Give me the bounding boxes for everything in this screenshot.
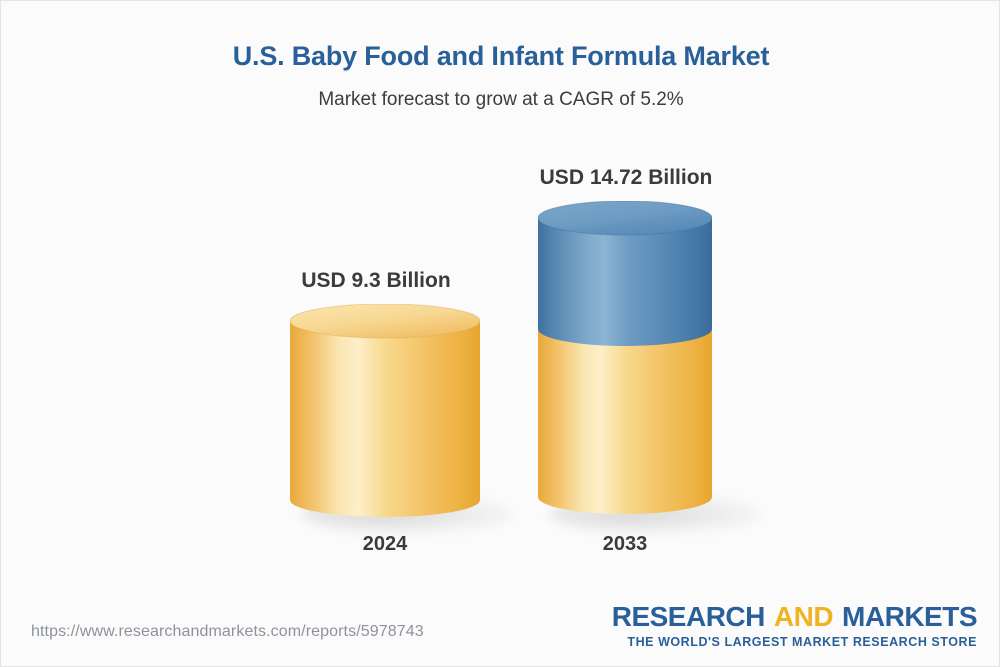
logo-tagline: THE WORLD'S LARGEST MARKET RESEARCH STOR… — [612, 635, 977, 649]
bar-cylinder-2024 — [290, 304, 480, 534]
chart-plot-area: USD 9.3 Billion — [1, 1, 1000, 601]
chart-canvas: U.S. Baby Food and Infant Formula Market… — [0, 0, 1000, 667]
logo-word-markets: MARKETS — [842, 601, 977, 632]
bar-category-label-2024: 2024 — [285, 533, 485, 556]
logo-wordmark: RESEARCHANDMARKETS — [612, 603, 977, 631]
research-and-markets-logo: RESEARCHANDMARKETS THE WORLD'S LARGEST M… — [612, 603, 977, 649]
source-url[interactable]: https://www.researchandmarkets.com/repor… — [31, 623, 424, 641]
bar-value-label-2024: USD 9.3 Billion — [276, 269, 476, 293]
logo-word-research: RESEARCH — [612, 601, 765, 632]
bar-value-label-2033: USD 14.72 Billion — [526, 166, 726, 190]
logo-word-and: AND — [774, 601, 833, 632]
bar-category-label-2033: 2033 — [525, 533, 725, 556]
bar-cylinder-2033 — [538, 201, 712, 531]
